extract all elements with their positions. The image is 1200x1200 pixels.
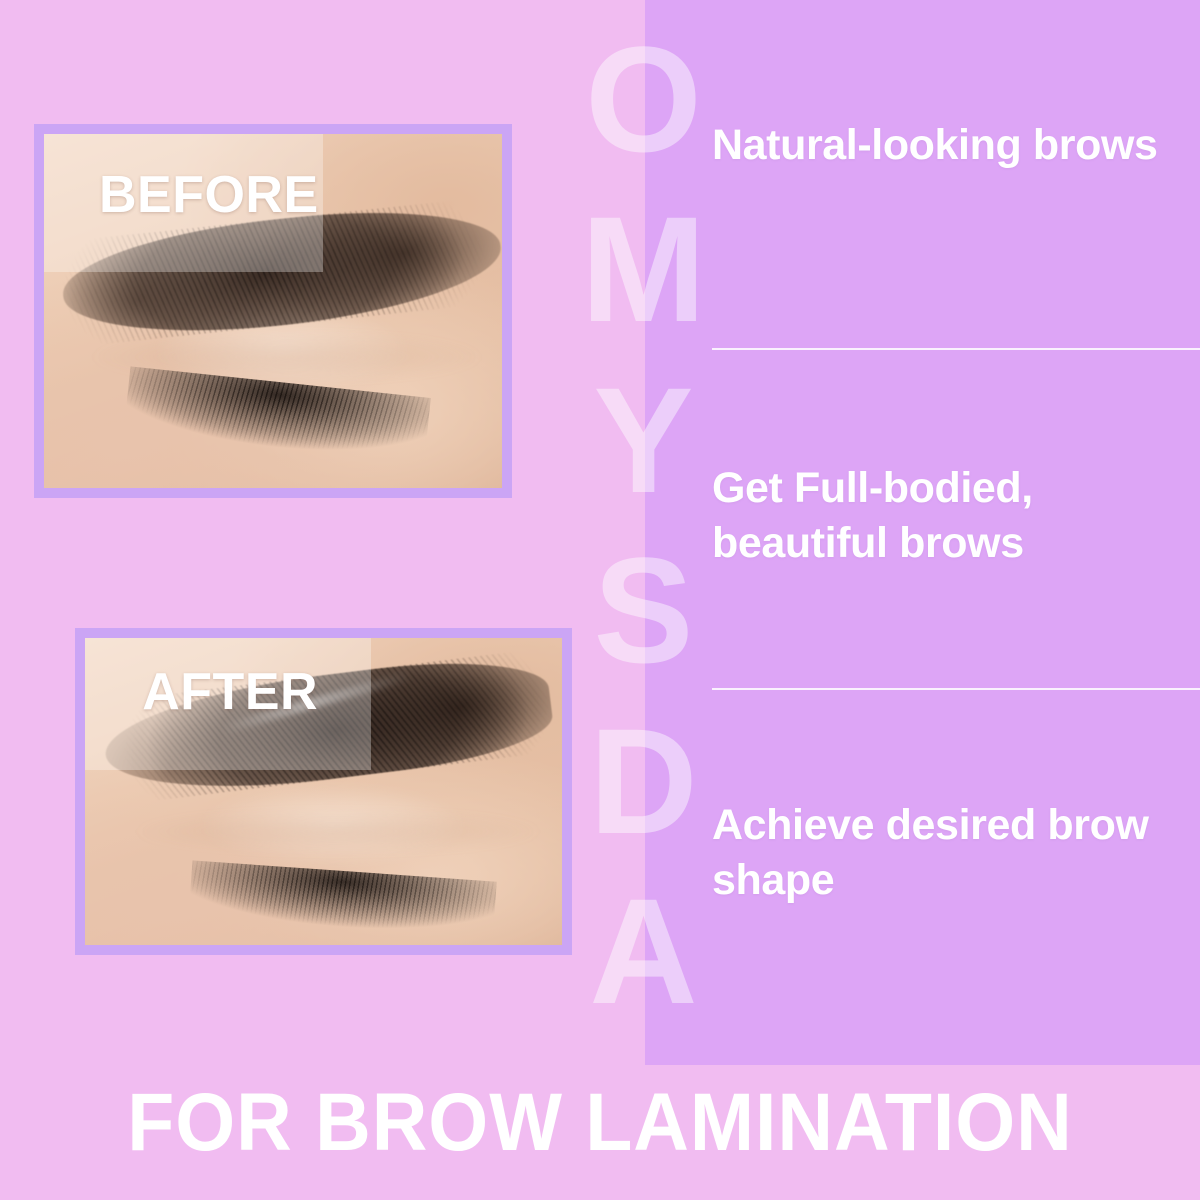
before-photo-frame: BEFORE [34, 124, 512, 498]
feature-text-2: Get Full-bodied, beautiful brows [712, 461, 1174, 571]
after-photo: AFTER [85, 638, 562, 945]
feature-divider-1 [712, 348, 1200, 350]
feature-text-1: Natural-looking brows [712, 118, 1174, 173]
promo-banner: O M Y S D A BEFORE [0, 0, 1200, 1200]
before-label: BEFORE [99, 169, 319, 221]
feature-item-2: Get Full-bodied, beautiful brows [712, 348, 1174, 688]
feature-text-3: Achieve desired brow shape [712, 798, 1174, 908]
headline: FOR BROW LAMINATION [36, 1082, 1164, 1164]
before-photo: BEFORE [44, 134, 502, 488]
feature-item-3: Achieve desired brow shape [712, 688, 1174, 908]
after-label: AFTER [142, 666, 318, 718]
eyelid-crease [133, 810, 543, 853]
feature-item-1: Natural-looking brows [712, 118, 1174, 348]
feature-list: Natural-looking brows Get Full-bodied, b… [712, 118, 1174, 908]
feature-divider-2 [712, 688, 1200, 690]
after-photo-frame: AFTER [75, 628, 572, 955]
